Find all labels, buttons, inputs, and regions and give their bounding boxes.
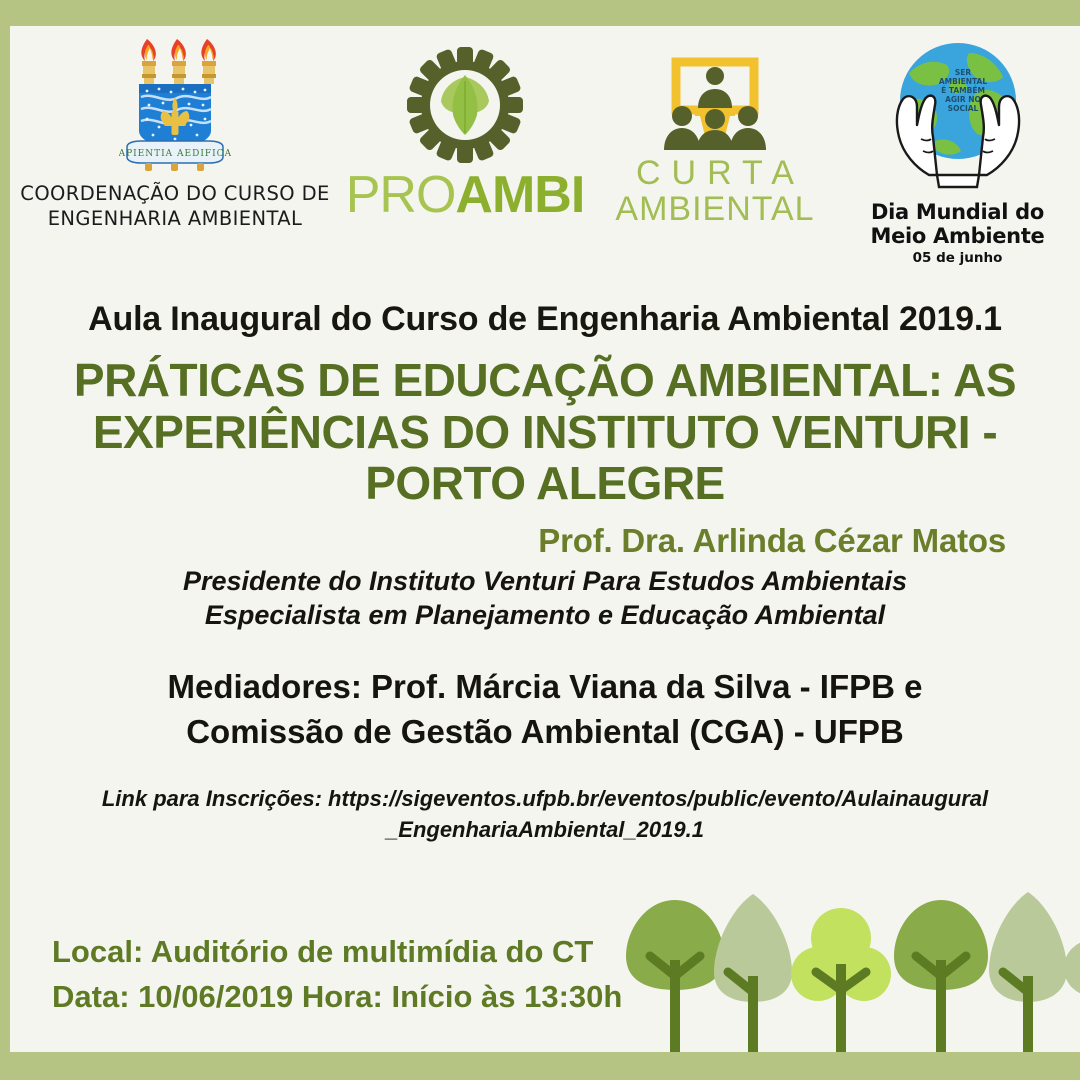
curta-logo-block: CURTA AMBIENTAL [590,44,840,227]
tree-item [1062,890,1080,1052]
event-mediators: Mediadores: Prof. Márcia Viana da Silva … [50,665,1040,755]
mediators-line-1: Mediadores: Prof. Márcia Viana da Silva … [50,665,1040,710]
ufpb-caption-line1: COORDENAÇÃO DO CURSO DE [10,181,340,206]
logo-row: SAPIENTIA AEDIFICAT COORDENAÇÃO DO CURSO… [10,26,1080,276]
ufpb-caption-line2: ENGENHARIA AMBIENTAL [10,206,340,231]
proambi-logo-block: PROAMBI [340,42,590,221]
proambi-word-pro: PRO [346,166,456,224]
ufpb-logo-block: SAPIENTIA AEDIFICAT COORDENAÇÃO DO CURSO… [10,30,340,232]
globe-text-line5: SOCIAL [947,104,978,113]
registration-link-continuation: _EngenhariaAmbiental_2019.1 [56,815,1034,845]
globe-text-line2: AMBIENTAL [938,77,987,86]
globe-text-line1: SER [954,68,971,77]
dia-mundial-subtitle: 05 de junho [840,250,1075,266]
bottom-accent-bar [0,1052,1080,1080]
event-location: Local: Auditório de multimídia do CT [52,930,622,975]
globe-text-line3: É TAMBÉM [941,86,985,95]
event-speaker-credentials: Presidente do Instituto Venturi Para Est… [40,564,1050,633]
event-speaker-name: Prof. Dra. Arlinda Cézar Matos [10,522,1006,560]
poster-body: Aula Inaugural do Curso de Engenharia Am… [10,276,1080,845]
event-poster: SAPIENTIA AEDIFICAT COORDENAÇÃO DO CURSO… [0,0,1080,1080]
ufpb-crest-icon: SAPIENTIA AEDIFICAT [10,30,340,175]
top-accent-bar [0,0,1080,26]
mediators-line-2: Comissão de Gestão Ambiental (CGA) - UFP… [50,710,1040,755]
dia-mundial-title: Dia Mundial do Meio Ambiente [840,201,1075,248]
curta-word-line1: CURTA [590,156,840,192]
curta-word-line2: AMBIENTAL [590,192,840,228]
svg-text:SAPIENTIA AEDIFICAT: SAPIENTIA AEDIFICAT [119,149,231,159]
credential-line-2: Especialista em Planejamento e Educação … [40,598,1050,633]
event-logistics: Local: Auditório de multimídia do CT Dat… [52,930,622,1020]
dia-mundial-title-line1: Dia Mundial do [840,201,1075,225]
registration-link-label: Link para Inscrições: https://sigeventos… [102,786,988,811]
dia-mundial-title-line2: Meio Ambiente [840,225,1075,249]
proambi-gear-leaf-icon [340,42,590,167]
event-datetime: Data: 10/06/2019 Hora: Início às 13:30h [52,975,622,1020]
curta-presentation-icon [590,44,840,156]
ufpb-caption: COORDENAÇÃO DO CURSO DE ENGENHARIA AMBIE… [10,181,340,232]
hands-holding-globe-icon: SER AMBIENTAL É TAMBÉM AGIR NO SOCIAL [840,26,1075,201]
tree-item [788,890,894,1052]
credential-line-1: Presidente do Instituto Venturi Para Est… [40,564,1050,599]
globe-text-line4: AGIR NO [945,95,981,104]
event-subtitle: Aula Inaugural do Curso de Engenharia Am… [10,300,1080,339]
dia-mundial-logo-block: SER AMBIENTAL É TAMBÉM AGIR NO SOCIAL [840,26,1075,266]
proambi-wordmark: PROAMBI [340,169,590,221]
event-title: PRÁTICAS DE EDUCAÇÃO AMBIENTAL: AS EXPER… [44,355,1046,510]
proambi-word-ambi: AMBI [455,166,584,224]
registration-link[interactable]: Link para Inscrições: https://sigeventos… [56,784,1034,845]
